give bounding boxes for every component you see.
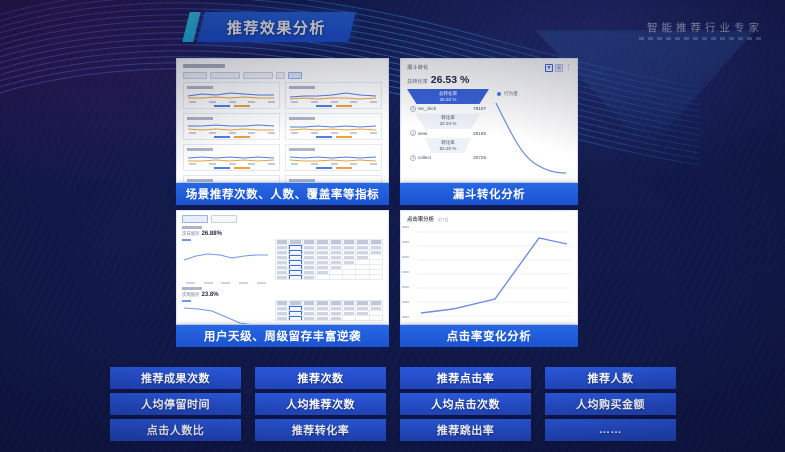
panel-retention[interactable]: 次日留存26.88% <box>176 210 389 325</box>
table-row <box>276 275 383 280</box>
legend-line-icon <box>182 300 191 302</box>
panel-caption-retention: 用户天级、周级留存丰富逆袭 <box>176 325 389 347</box>
funnel-header: 漏斗转化 ▼ ▥ ⋮ <box>401 59 577 72</box>
funnel-step-index: 2 <box>410 130 416 136</box>
retention-daily-kpi: 次日留存26.88% <box>182 231 383 237</box>
ctr-widget-title: 点击率分析 <box>407 215 434 223</box>
chip-metric[interactable]: 人均推荐次数 <box>255 393 386 415</box>
panel-funnel[interactable]: 漏斗转化 ▼ ▥ ⋮ 总转化率 26.53 % 总转化率 26.53 % 1 r… <box>400 58 578 183</box>
funnel-band-total: 总转化率 26.53 % <box>407 89 489 104</box>
chip-metric[interactable]: 推荐成果次数 <box>110 367 241 389</box>
mini-chart-card[interactable] <box>285 113 382 140</box>
p1-filter-add[interactable] <box>276 72 285 79</box>
chip-metric[interactable]: 推荐跳出率 <box>400 419 531 441</box>
funnel-band-value: 26.53 % <box>407 97 489 103</box>
retention-weekly-table[interactable] <box>275 300 383 325</box>
p1-chart-grid <box>177 82 388 183</box>
chip-metric[interactable]: 人均停留时间 <box>110 393 241 415</box>
retention-daily-block: 次日留存26.88% <box>177 226 388 287</box>
page-title-banner: 推荐效果分析 <box>186 12 352 42</box>
title-box: 推荐效果分析 <box>197 12 355 42</box>
ctr-widget-sub: 近7日 <box>438 217 449 223</box>
funnel-decay-line <box>494 97 568 179</box>
mini-chart-card[interactable] <box>285 175 382 183</box>
chip-metric[interactable]: 推荐转化率 <box>255 419 386 441</box>
funnel-conv-value: 82.20 % <box>407 146 489 152</box>
tab-daily-retention[interactable] <box>182 215 208 223</box>
tab-weekly-retention[interactable] <box>211 215 237 223</box>
mini-chart-card[interactable] <box>285 82 382 109</box>
funnel-step-row: 3 collect 20725 <box>407 153 489 162</box>
funnel-step-name: collect <box>418 155 431 160</box>
funnel-conv-label: 转化率 <box>407 140 489 146</box>
ctr-line-svg <box>417 226 573 318</box>
funnel-widget-title: 漏斗转化 <box>407 64 429 71</box>
panel-ctr[interactable]: 点击率分析 近7日 <box>400 210 578 325</box>
funnel-diagram: 总转化率 26.53 % 1 rec_click 78107 转化率 32.24… <box>407 89 489 183</box>
kpi-label: 次日留存 <box>182 231 200 236</box>
funnel-rate-label: 总转化率 <box>407 78 428 85</box>
legend-dot-icon <box>497 92 501 96</box>
chip-metric[interactable]: 人均购买金额 <box>545 393 676 415</box>
funnel-total-rate: 总转化率 26.53 % <box>401 72 577 89</box>
legend-line-icon <box>182 239 191 241</box>
chip-metric[interactable]: 人均点击次数 <box>400 393 531 415</box>
funnel-conversion-2: 转化率 82.20 % <box>407 138 489 153</box>
panel-caption-ctr: 点击率变化分析 <box>400 325 578 347</box>
panel-caption-funnel: 漏斗转化分析 <box>400 183 578 205</box>
funnel-conv-value: 32.24 % <box>407 121 489 127</box>
retention-weekly-block: 次周留存23.8% <box>177 287 388 325</box>
retention-daily-title <box>182 226 202 229</box>
funnel-step-name: rec_click <box>418 106 436 111</box>
funnel-step-count: 20725 <box>473 155 486 160</box>
mini-chart-card[interactable] <box>285 144 382 171</box>
p1-title-placeholder <box>183 64 225 68</box>
table-row <box>276 316 383 321</box>
filter-icon[interactable]: ▼ <box>545 64 553 72</box>
p1-filter-select-1[interactable] <box>210 72 240 79</box>
retention-weekly-title <box>182 287 202 290</box>
panel-caption-scene-metrics: 场景推荐次数、人数、覆盖率等指标 <box>176 183 389 205</box>
p1-filter-label <box>183 72 207 79</box>
more-icon[interactable]: ⋮ <box>565 64 571 72</box>
chip-metric[interactable]: …… <box>545 419 676 441</box>
chip-metric[interactable]: 推荐人数 <box>545 367 676 389</box>
tagline-dashed-rule <box>639 37 763 40</box>
kpi-value: 23.8% <box>202 292 219 298</box>
retention-daily-chart <box>182 239 270 284</box>
retention-daily-table[interactable] <box>275 239 383 284</box>
funnel-body: 总转化率 26.53 % 1 rec_click 78107 转化率 32.24… <box>401 89 577 183</box>
retention-tabs[interactable] <box>177 211 388 226</box>
chip-metric[interactable]: 推荐次数 <box>255 367 386 389</box>
p1-filter-select-2[interactable] <box>243 72 273 79</box>
ctr-plot <box>417 226 571 318</box>
chip-metric[interactable]: 推荐点击率 <box>400 367 531 389</box>
tagline: 智能推荐行业专家 <box>647 20 763 35</box>
retention-weekly-chart <box>182 300 270 325</box>
mini-chart-card[interactable] <box>183 144 280 171</box>
funnel-step-row: 1 rec_click 78107 <box>407 104 489 113</box>
kpi-value: 26.88% <box>202 231 222 237</box>
slide-root: 推荐效果分析 智能推荐行业专家 <box>0 0 785 452</box>
ctr-header: 点击率分析 近7日 <box>401 211 577 224</box>
funnel-decay-chart: 行为量 <box>494 89 571 183</box>
p1-header <box>177 59 388 82</box>
page-title: 推荐效果分析 <box>227 17 326 38</box>
kpi-label: 次周留存 <box>182 292 200 297</box>
funnel-step-index: 3 <box>410 155 416 161</box>
chart-icon[interactable]: ▥ <box>555 64 563 72</box>
ctr-y-axis-ticks <box>402 226 409 318</box>
funnel-step-count: 78107 <box>473 106 486 111</box>
mini-chart-card[interactable] <box>183 175 280 183</box>
funnel-step-index: 1 <box>410 106 416 112</box>
funnel-rate-value: 26.53 % <box>431 74 470 86</box>
panel-scene-metrics[interactable] <box>176 58 389 183</box>
funnel-chart-legend: 行为量 <box>494 89 571 97</box>
retention-weekly-kpi: 次周留存23.8% <box>182 292 383 298</box>
funnel-toolbar[interactable]: ▼ ▥ ⋮ <box>545 64 571 72</box>
funnel-step-name: view <box>418 131 427 136</box>
mini-chart-card[interactable] <box>183 113 280 140</box>
p1-filter-row[interactable] <box>183 72 382 79</box>
funnel-conversion-1: 转化率 32.24 % <box>407 113 489 128</box>
metric-chip-grid: 推荐成果次数 推荐次数 推荐点击率 推荐人数 人均停留时间 人均推荐次数 人均点… <box>110 367 678 441</box>
p1-query-button[interactable] <box>288 72 302 79</box>
funnel-step-row: 2 view 25165 <box>407 129 489 138</box>
funnel-step-count: 25165 <box>473 131 486 136</box>
chip-metric[interactable]: 点击人数比 <box>110 419 241 441</box>
mini-chart-card[interactable] <box>183 82 280 109</box>
